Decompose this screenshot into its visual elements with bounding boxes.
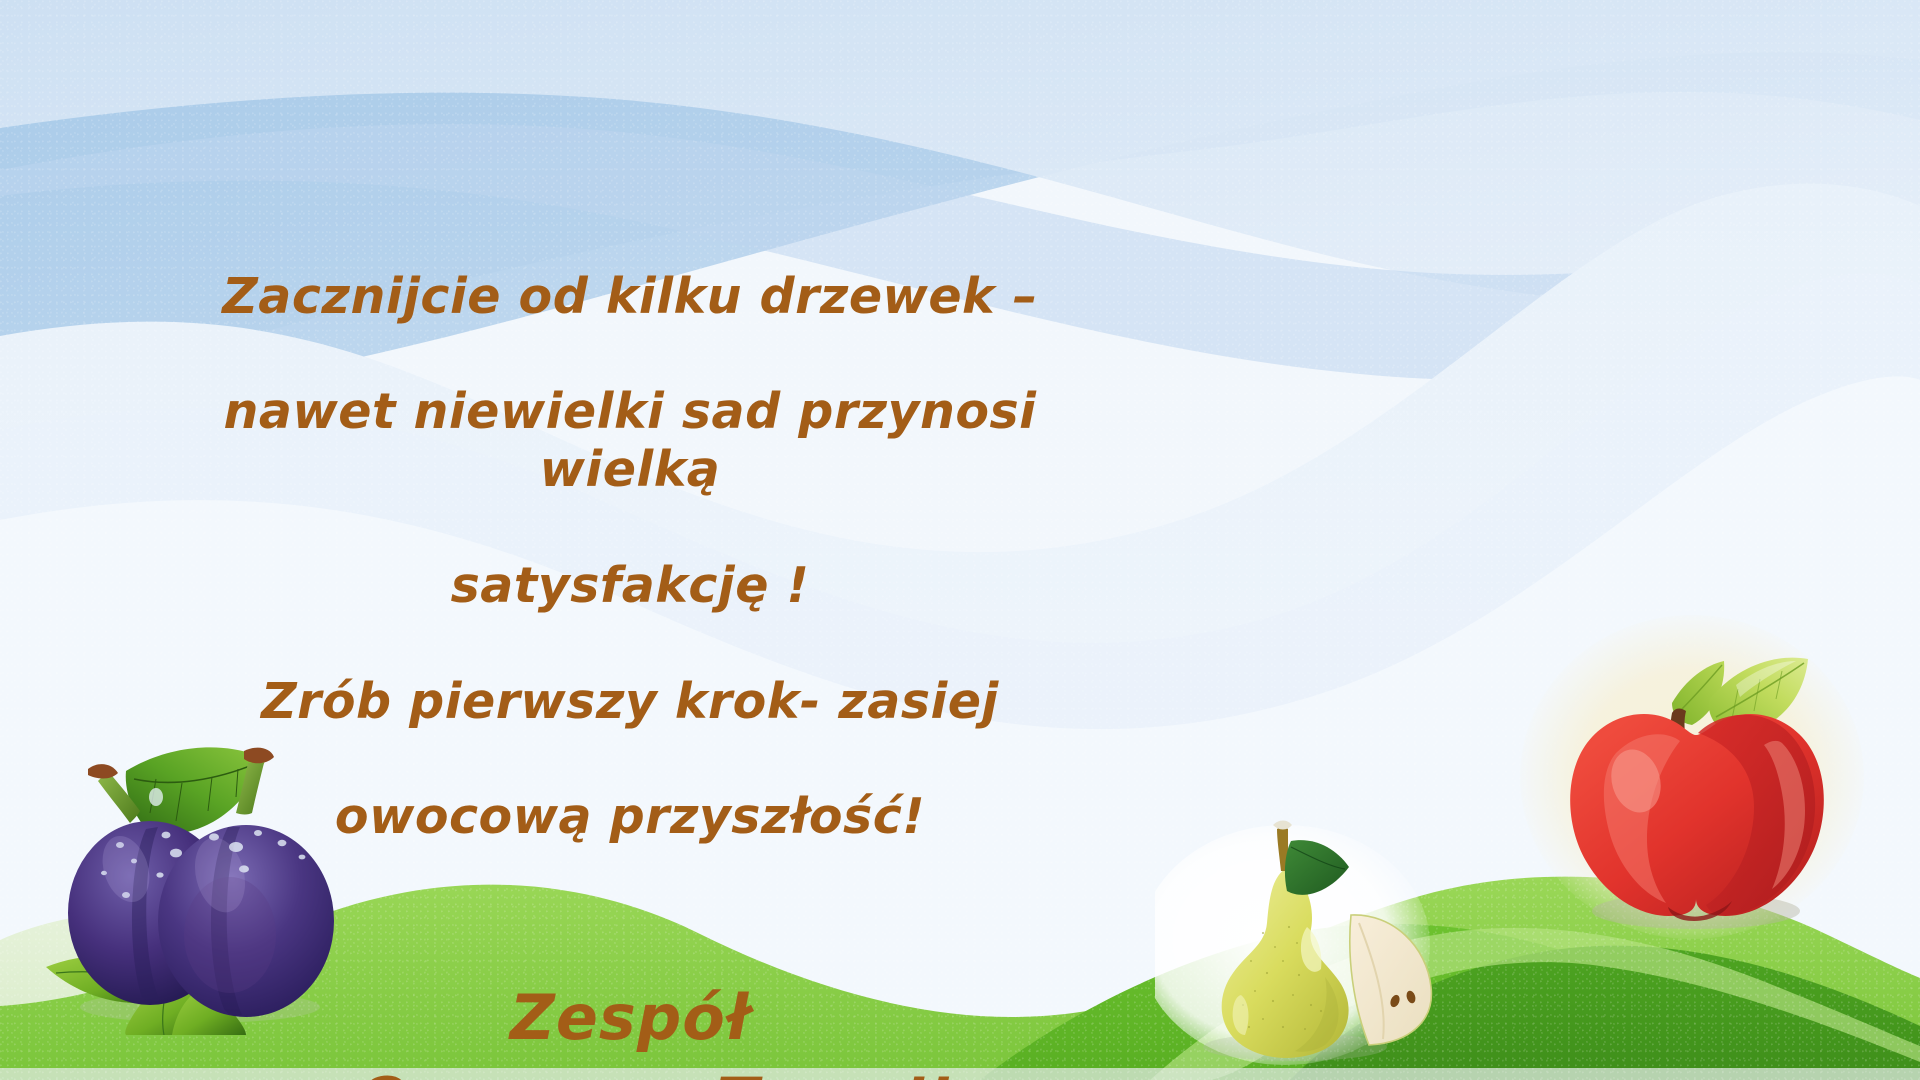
message-line-2: nawet niewielki sad przynosi wielką — [170, 383, 1090, 499]
signature-line-team-name: ,,Owocowy Team’’ — [170, 1059, 1090, 1080]
plums-illustration — [30, 735, 360, 1035]
message-line-1: Zacznijcie od kilku drzewek – — [170, 268, 1090, 326]
pear-illustration — [1155, 805, 1445, 1070]
plum-stem-left-cap — [88, 764, 118, 778]
apple-illustration — [1520, 615, 1865, 945]
message-line-3: satysfakcję ! — [170, 557, 1090, 615]
slide-canvas: Zacznijcie od kilku drzewek – nawet niew… — [0, 0, 1920, 1080]
message-line-4: Zrób pierwszy krok- zasiej — [170, 673, 1090, 731]
hill-band-3 — [980, 924, 1920, 1080]
plum-stem-right-cap — [244, 748, 274, 764]
